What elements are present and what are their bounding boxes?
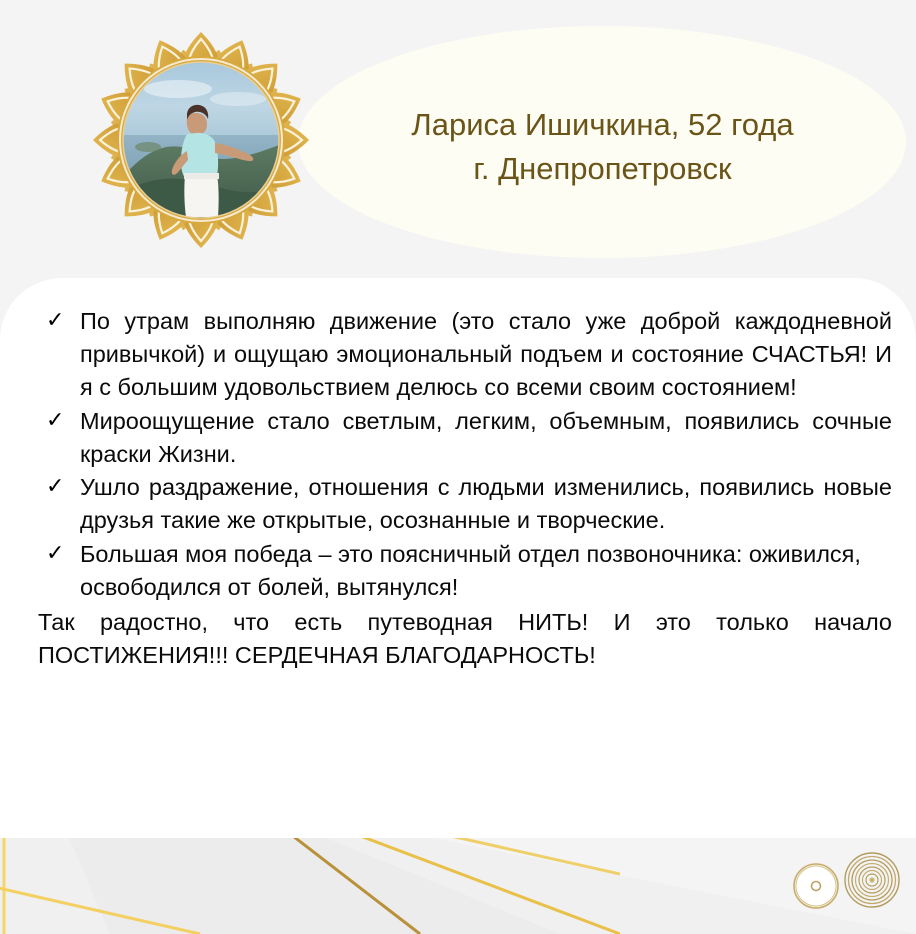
slide-canvas: Лариса Ишичкина, 52 года г. Днепропетров…	[0, 0, 916, 934]
check-icon: ✓	[46, 538, 64, 569]
closing-paragraph: Так радостно, что есть путеводная НИТЬ! …	[0, 606, 916, 672]
list-item-text: По утрам выполняю движение (это стало уж…	[80, 305, 892, 404]
portrait-medallion	[88, 27, 314, 253]
portrait-photo	[123, 62, 279, 218]
list-item: ✓ Ушло раздражение, отношения с людьми и…	[0, 471, 916, 537]
gold-ring-ornament	[794, 864, 838, 908]
list-item-text: Мироощущение стало светлым, легким, объе…	[80, 405, 892, 471]
list-item: ✓ Большая моя победа – это поясничный от…	[0, 538, 916, 604]
check-icon: ✓	[46, 405, 64, 436]
list-item-text: Большая моя победа – это поясничный отде…	[80, 538, 892, 604]
check-icon: ✓	[46, 305, 64, 336]
testimonial-body: ✓ По утрам выполняю движение (это стало …	[0, 305, 916, 672]
list-item: ✓ По утрам выполняю движение (это стало …	[0, 305, 916, 404]
gold-ornaments	[784, 848, 900, 914]
list-item-text: Ушло раздражение, отношения с людьми изм…	[80, 471, 892, 537]
list-item: ✓ Мироощущение стало светлым, легким, об…	[0, 405, 916, 471]
page-title: Лариса Ишичкина, 52 года г. Днепропетров…	[330, 103, 875, 191]
gold-concentric-circles-ornament	[845, 853, 899, 907]
check-icon: ✓	[46, 471, 64, 502]
